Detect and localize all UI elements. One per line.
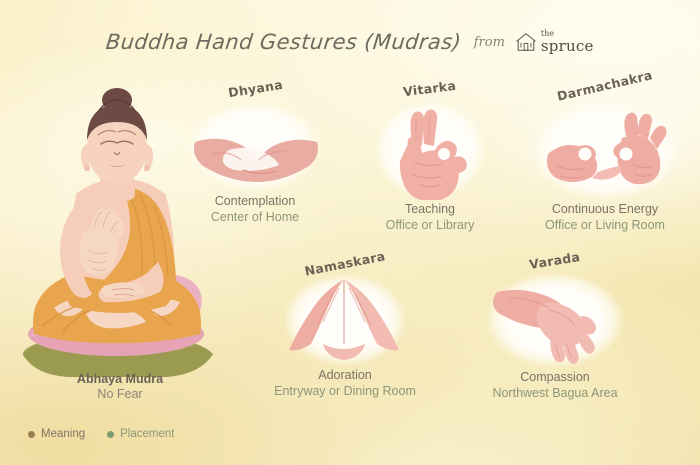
logo-brand-text: spruce — [541, 39, 594, 54]
legend-item-meaning: Meaning — [28, 428, 85, 440]
mudra-label-darmachakra: Darmachakra — [515, 78, 695, 100]
buddha-caption: Abhaya Mudra No Fear — [10, 372, 230, 401]
mudra-meaning-namaskara: Adoration — [250, 368, 440, 384]
legend-dot-placement — [107, 431, 114, 438]
mudra-meaning-varada: Compassion — [460, 370, 650, 386]
header: Buddha Hand Gestures (Mudras) from the s… — [0, 22, 700, 62]
mudra-meaning-darmachakra: Continuous Energy — [515, 202, 695, 218]
mudra-placement-vitarka: Office or Library — [355, 218, 505, 234]
mudra-placement-darmachakra: Office or Living Room — [515, 218, 695, 234]
praying-hands-icon — [283, 274, 407, 366]
legend-label-meaning: Meaning — [41, 428, 85, 440]
mudra-meaning-dhyana: Contemplation — [180, 194, 330, 210]
mudra-panel-varada: Varada Compassion Northwest Bagua Are — [460, 252, 650, 401]
mudra-panel-vitarka: Vitarka Teaching Office or L — [355, 80, 505, 233]
mudra-placement-varada: Northwest Bagua Area — [460, 386, 650, 402]
buddha-mudra-name: Abhaya Mudra — [10, 372, 230, 386]
mudra-panel-dhyana: Dhyana Contemplation Center of Home — [180, 80, 330, 225]
mudra-panel-darmachakra: Darmachakra — [515, 78, 695, 233]
teaching-hand-icon — [374, 100, 486, 200]
mudra-meaning-vitarka: Teaching — [355, 202, 505, 218]
legend: Meaning Placement — [28, 428, 174, 440]
legend-label-placement: Placement — [120, 428, 174, 440]
cupped-hands-icon — [189, 102, 321, 192]
the-spruce-logo: the spruce — [515, 30, 594, 54]
mudra-placement-dhyana: Center of Home — [180, 210, 330, 226]
infographic-canvas: Buddha Hand Gestures (Mudras) from the s… — [0, 0, 700, 465]
legend-dot-meaning — [28, 431, 35, 438]
legend-item-placement: Placement — [107, 428, 174, 440]
mudra-label-dhyana: Dhyana — [228, 81, 283, 96]
mudra-placement-namaskara: Entryway or Dining Room — [250, 384, 440, 400]
house-icon — [515, 31, 537, 53]
page-title: Buddha Hand Gestures (Mudras) — [105, 30, 463, 54]
mudra-label-namaskara: Namaskara — [304, 256, 386, 271]
from-label: from — [474, 35, 505, 50]
open-downward-hand-icon — [485, 272, 625, 368]
mudra-label-vitarka: Vitarka — [403, 81, 456, 96]
two-hands-circle-icon — [530, 102, 680, 200]
mudra-label-varada: Varada — [529, 253, 580, 268]
mudra-panel-namaskara: Namaskara Adoration Entryway or Dining R… — [250, 255, 440, 399]
buddha-mudra-meaning: No Fear — [10, 387, 230, 401]
